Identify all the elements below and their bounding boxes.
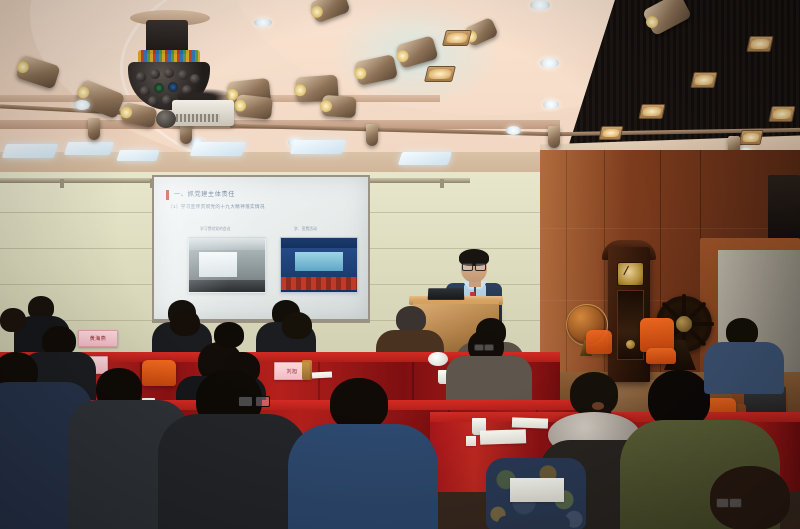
ceiling-projector [172, 100, 234, 126]
audience-head [282, 312, 312, 339]
document-paper[interactable] [466, 436, 476, 446]
ceiling-mount-base [146, 20, 188, 54]
audience-head [0, 308, 26, 332]
recessed-downlight [543, 100, 559, 109]
recessed-downlight [74, 100, 90, 110]
track-spotlight [321, 95, 356, 118]
square-recessed-light [424, 66, 456, 82]
pendant-light [548, 126, 560, 148]
pendant-light [88, 118, 100, 140]
wall-speaker [768, 175, 800, 241]
conference-room-photo: 一、抓党建主体责任 （1）学习宣传贯彻党的十九大精神落实情况 学习贯彻党的会议 … [0, 0, 800, 529]
name-card-text: 黄海燕 [90, 335, 107, 342]
projector-lens-icon [156, 110, 176, 128]
chair-orange-seat[interactable] [646, 348, 676, 364]
square-recessed-light [638, 104, 665, 119]
tea-bottle[interactable] [302, 360, 312, 380]
square-recessed-light [690, 72, 717, 88]
document-paper[interactable] [480, 429, 526, 445]
slide-caption-right: 学、宣贯活动 [294, 227, 317, 232]
recessed-downlight [540, 58, 559, 68]
document-paper[interactable] [312, 371, 332, 378]
clock-face [617, 262, 644, 286]
square-recessed-light [746, 36, 773, 52]
chair-orange[interactable] [142, 360, 176, 386]
panel-light [2, 144, 59, 158]
recessed-downlight [254, 18, 272, 27]
slide-title-accent-bar [166, 190, 169, 200]
glasses-icon [474, 344, 494, 349]
audience-head [330, 378, 388, 430]
panel-light [290, 140, 347, 154]
square-recessed-light [738, 130, 763, 145]
square-recessed-light [599, 126, 624, 140]
name-card: 黄海燕 [78, 330, 118, 347]
hair-tie [592, 402, 604, 410]
recessed-downlight [530, 0, 550, 10]
audience-torso [288, 424, 438, 529]
chair-orange[interactable] [640, 318, 674, 352]
panel-light [64, 142, 114, 155]
chair-orange[interactable] [586, 330, 612, 354]
audience-head [214, 322, 244, 348]
audience-torso [704, 342, 784, 394]
slide-caption-left: 学习贯彻党的会议 [200, 227, 230, 232]
slide-title: 一、抓党建主体责任 [174, 189, 235, 198]
slide-photo-left [188, 237, 266, 293]
track-spotlight [235, 94, 273, 120]
pendant-light [366, 124, 378, 146]
glasses-icon [238, 396, 270, 405]
audience-head [170, 310, 200, 336]
panel-light [190, 142, 247, 156]
recessed-downlight [506, 126, 521, 135]
audience-torso [158, 414, 308, 529]
backpack-paper[interactable] [510, 478, 564, 502]
name-card-text: 刘旭 [286, 368, 297, 375]
paper-cup[interactable] [428, 352, 448, 366]
square-recessed-light [442, 30, 472, 46]
slide-photo-right [280, 237, 358, 293]
clock-pendulum [626, 340, 635, 349]
document-paper[interactable] [512, 417, 548, 428]
glasses-icon [716, 498, 742, 506]
laptop[interactable] [428, 288, 465, 300]
audience-head [396, 306, 426, 333]
panel-light [398, 152, 452, 165]
projection-screen: 一、抓党建主体责任 （1）学习宣传贯彻党的十九大精神落实情况 学习贯彻党的会议 … [154, 177, 368, 319]
square-recessed-light [768, 106, 795, 122]
panel-light [116, 150, 160, 161]
slide-subtitle: （1）学习宣传贯彻党的十九大精神落实情况 [168, 204, 265, 210]
glasses-icon [462, 263, 486, 269]
backpack-strap [498, 516, 570, 529]
